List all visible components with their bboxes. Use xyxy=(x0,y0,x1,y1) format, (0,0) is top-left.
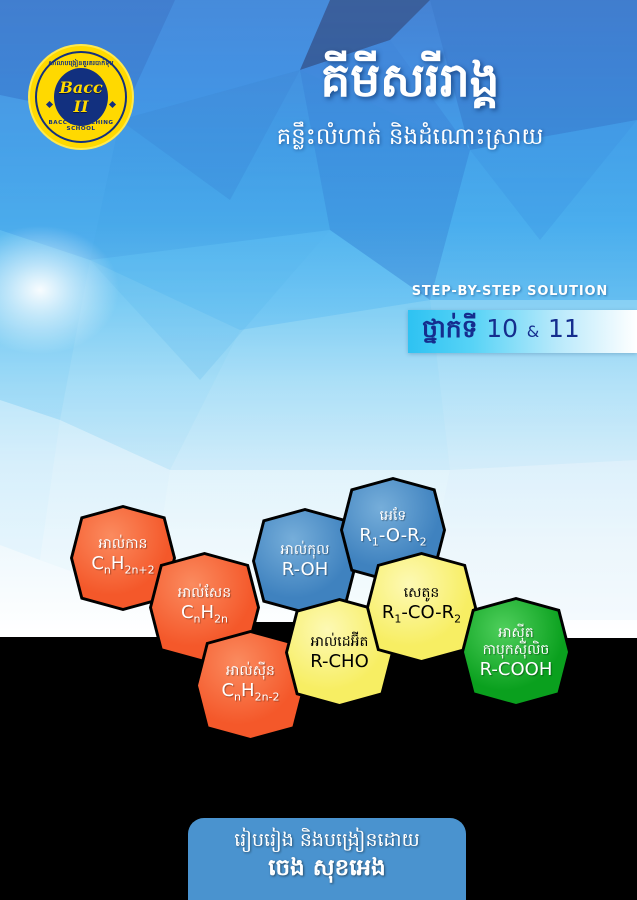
hex-formula-alkane: CnH2n+2 xyxy=(91,553,154,581)
hex-label-ether: អេទែ xyxy=(380,508,407,525)
hex-label-ketone: សេតូន xyxy=(404,585,440,602)
logo-diamond-right-icon xyxy=(109,101,116,108)
hex-label-alkyne: អាល់ស៊ីន xyxy=(226,663,275,680)
step-by-step-label: STEP-BY-STEP SOLUTION xyxy=(0,284,608,299)
hex-label2-carboxylic-acid: កាបុកស៊ីលិច xyxy=(483,642,550,659)
school-logo: សាលាបង្រៀនគួរគរបាក់ទុប BACC II TEACHING … xyxy=(30,46,132,148)
logo-diamond-left-icon xyxy=(46,101,53,108)
grade-ampersand: & xyxy=(527,322,539,341)
functional-group-diagram: អាល់កានCnH2n+2អាល់សែនCnH2nអាល់ស៊ីនCnH2n-… xyxy=(0,460,637,740)
logo-brand-text: Bacc II xyxy=(54,78,108,116)
grade-number-10: 10 xyxy=(486,314,518,343)
cover-subtitle: គន្លឹះលំហាត់ និងដំណោះស្រាយ xyxy=(200,122,620,152)
hex-label-carboxylic-acid: អាស៊ីត xyxy=(498,625,534,642)
hex-formula-alcohol: R-OH xyxy=(282,559,328,580)
hex-carboxylic-acid: អាស៊ីតកាបុកស៊ីលិចR-COOH xyxy=(464,600,568,704)
grade-banner: ថ្នាក់ទី 10 & 11 xyxy=(408,310,637,353)
hex-label-alkene: អាល់សែន xyxy=(178,585,231,602)
hex-formula-ketone: R1-CO-R2 xyxy=(382,602,461,630)
cover-title: គីមីសរីរាង្គ xyxy=(200,52,620,110)
logo-ring: សាលាបង្រៀនគួរគរបាក់ទុប BACC II TEACHING … xyxy=(35,51,127,143)
author-box: រៀបរៀង និងបង្រៀនដោយ ចេង សុខអេង xyxy=(188,818,466,900)
hex-formula-aldehyde: R-CHO xyxy=(310,651,369,672)
hex-formula-alkyne: CnH2n-2 xyxy=(221,680,279,708)
logo-core: Bacc II xyxy=(54,68,108,126)
hex-label-alcohol: អាល់កុល xyxy=(281,542,330,559)
grade-number-11: 11 xyxy=(548,314,580,343)
grade-text: ថ្នាក់ទី 10 & 11 xyxy=(422,314,580,350)
hex-ketone: សេតូនR1-CO-R2 xyxy=(369,555,474,660)
author-name: ចេង សុខអេង xyxy=(188,854,466,882)
hex-alcohol: អាល់កុលR-OH xyxy=(255,511,355,611)
hex-formula-alkene: CnH2n xyxy=(181,602,228,630)
hex-label-alkane: អាល់កាន xyxy=(99,536,148,553)
grade-khmer-label: ថ្នាក់ទី xyxy=(422,314,478,343)
hex-formula-ether: R1-O-R2 xyxy=(359,525,426,553)
hex-label-aldehyde: អាល់ដេអ៊ីត xyxy=(311,634,369,651)
book-cover: សាលាបង្រៀនគួរគរបាក់ទុប BACC II TEACHING … xyxy=(0,0,637,900)
author-prefix: រៀបរៀង និងបង្រៀនដោយ xyxy=(188,828,466,852)
hex-formula-carboxylic-acid: R-COOH xyxy=(480,659,553,680)
